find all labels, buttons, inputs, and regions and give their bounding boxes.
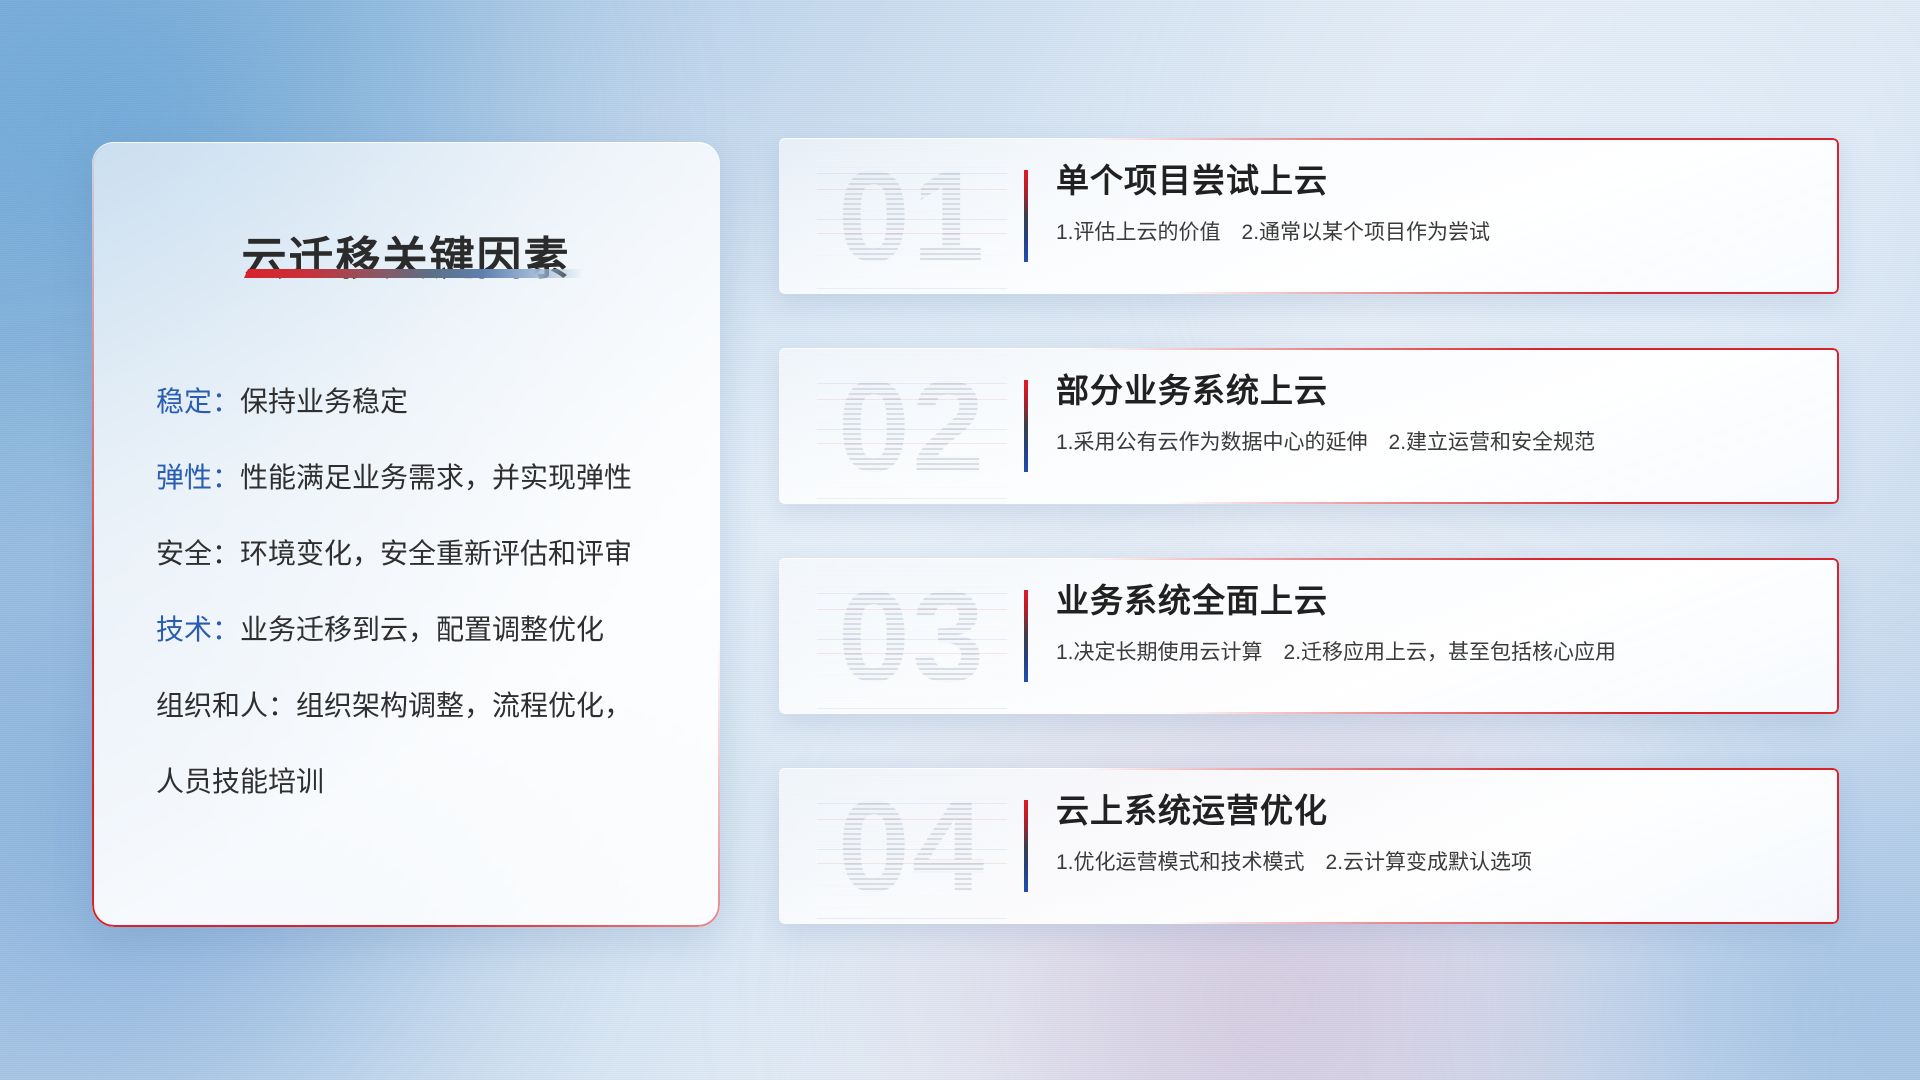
factor-text: 环境变化，安全重新评估和评审	[240, 538, 632, 569]
stage-body: 部分业务系统上云1.采用公有云作为数据中心的延伸 2.建立运营和安全规范	[1056, 368, 1815, 458]
stage-card[interactable]: 02部分业务系统上云1.采用公有云作为数据中心的延伸 2.建立运营和安全规范	[779, 348, 1839, 504]
stage-card[interactable]: 04云上系统运营优化1.优化运营模式和技术模式 2.云计算变成默认选项	[779, 768, 1839, 924]
stage-body: 单个项目尝试上云1.评估上云的价值 2.通常以某个项目作为尝试	[1056, 158, 1815, 248]
stage-card[interactable]: 03业务系统全面上云1.决定长期使用云计算 2.迁移应用上云，甚至包括核心应用	[779, 558, 1839, 714]
factor-text: 人员技能培训	[156, 766, 324, 797]
factor-label: 稳定：	[156, 386, 240, 417]
factor-label: 组织和人：	[156, 690, 296, 721]
stage-number: 01	[817, 138, 1007, 294]
factor-text: 性能满足业务需求，并实现弹性	[240, 462, 632, 493]
stage-subtitle: 1.评估上云的价值 2.通常以某个项目作为尝试	[1056, 218, 1815, 248]
stage-subtitle: 1.优化运营模式和技术模式 2.云计算变成默认选项	[1056, 848, 1815, 878]
stage-divider	[1024, 800, 1028, 892]
stage-divider	[1024, 590, 1028, 682]
factor-label: 安全：	[156, 538, 240, 569]
stage-title: 部分业务系统上云	[1056, 368, 1815, 414]
stage-subtitle: 1.采用公有云作为数据中心的延伸 2.建立运营和安全规范	[1056, 428, 1815, 458]
factor-row: 弹性：性能满足业务需求，并实现弹性	[132, 440, 696, 516]
stage-number: 04	[817, 768, 1007, 924]
factor-row: 人员技能培训	[132, 744, 696, 820]
stage-card-list: 01单个项目尝试上云1.评估上云的价值 2.通常以某个项目作为尝试02部分业务系…	[779, 138, 1839, 978]
factor-label: 技术：	[156, 614, 240, 645]
stage-title: 单个项目尝试上云	[1056, 158, 1815, 204]
factor-text: 保持业务稳定	[240, 386, 408, 417]
stage-number: 03	[817, 558, 1007, 714]
stage-body: 云上系统运营优化1.优化运营模式和技术模式 2.云计算变成默认选项	[1056, 788, 1815, 878]
stage-title: 业务系统全面上云	[1056, 578, 1815, 624]
factor-text: 业务迁移到云，配置调整优化	[240, 614, 604, 645]
stage-body: 业务系统全面上云1.决定长期使用云计算 2.迁移应用上云，甚至包括核心应用	[1056, 578, 1815, 668]
factor-list: 稳定：保持业务稳定弹性：性能满足业务需求，并实现弹性安全：环境变化，安全重新评估…	[132, 364, 696, 820]
factor-row: 安全：环境变化，安全重新评估和评审	[132, 516, 696, 592]
stage-divider	[1024, 170, 1028, 262]
key-factors-panel: 云迁移关键因素 稳定：保持业务稳定弹性：性能满足业务需求，并实现弹性安全：环境变…	[92, 142, 720, 927]
factor-row: 组织和人：组织架构调整，流程优化，	[132, 668, 696, 744]
stage-title: 云上系统运营优化	[1056, 788, 1815, 834]
title-accent-bar	[244, 269, 584, 278]
factor-row: 稳定：保持业务稳定	[132, 364, 696, 440]
factor-row: 技术：业务迁移到云，配置调整优化	[132, 592, 696, 668]
stage-number: 02	[817, 348, 1007, 504]
factor-label: 弹性：	[156, 462, 240, 493]
stage-card[interactable]: 01单个项目尝试上云1.评估上云的价值 2.通常以某个项目作为尝试	[779, 138, 1839, 294]
stage-subtitle: 1.决定长期使用云计算 2.迁移应用上云，甚至包括核心应用	[1056, 638, 1815, 668]
stage-divider	[1024, 380, 1028, 472]
factor-text: 组织架构调整，流程优化，	[296, 690, 632, 721]
